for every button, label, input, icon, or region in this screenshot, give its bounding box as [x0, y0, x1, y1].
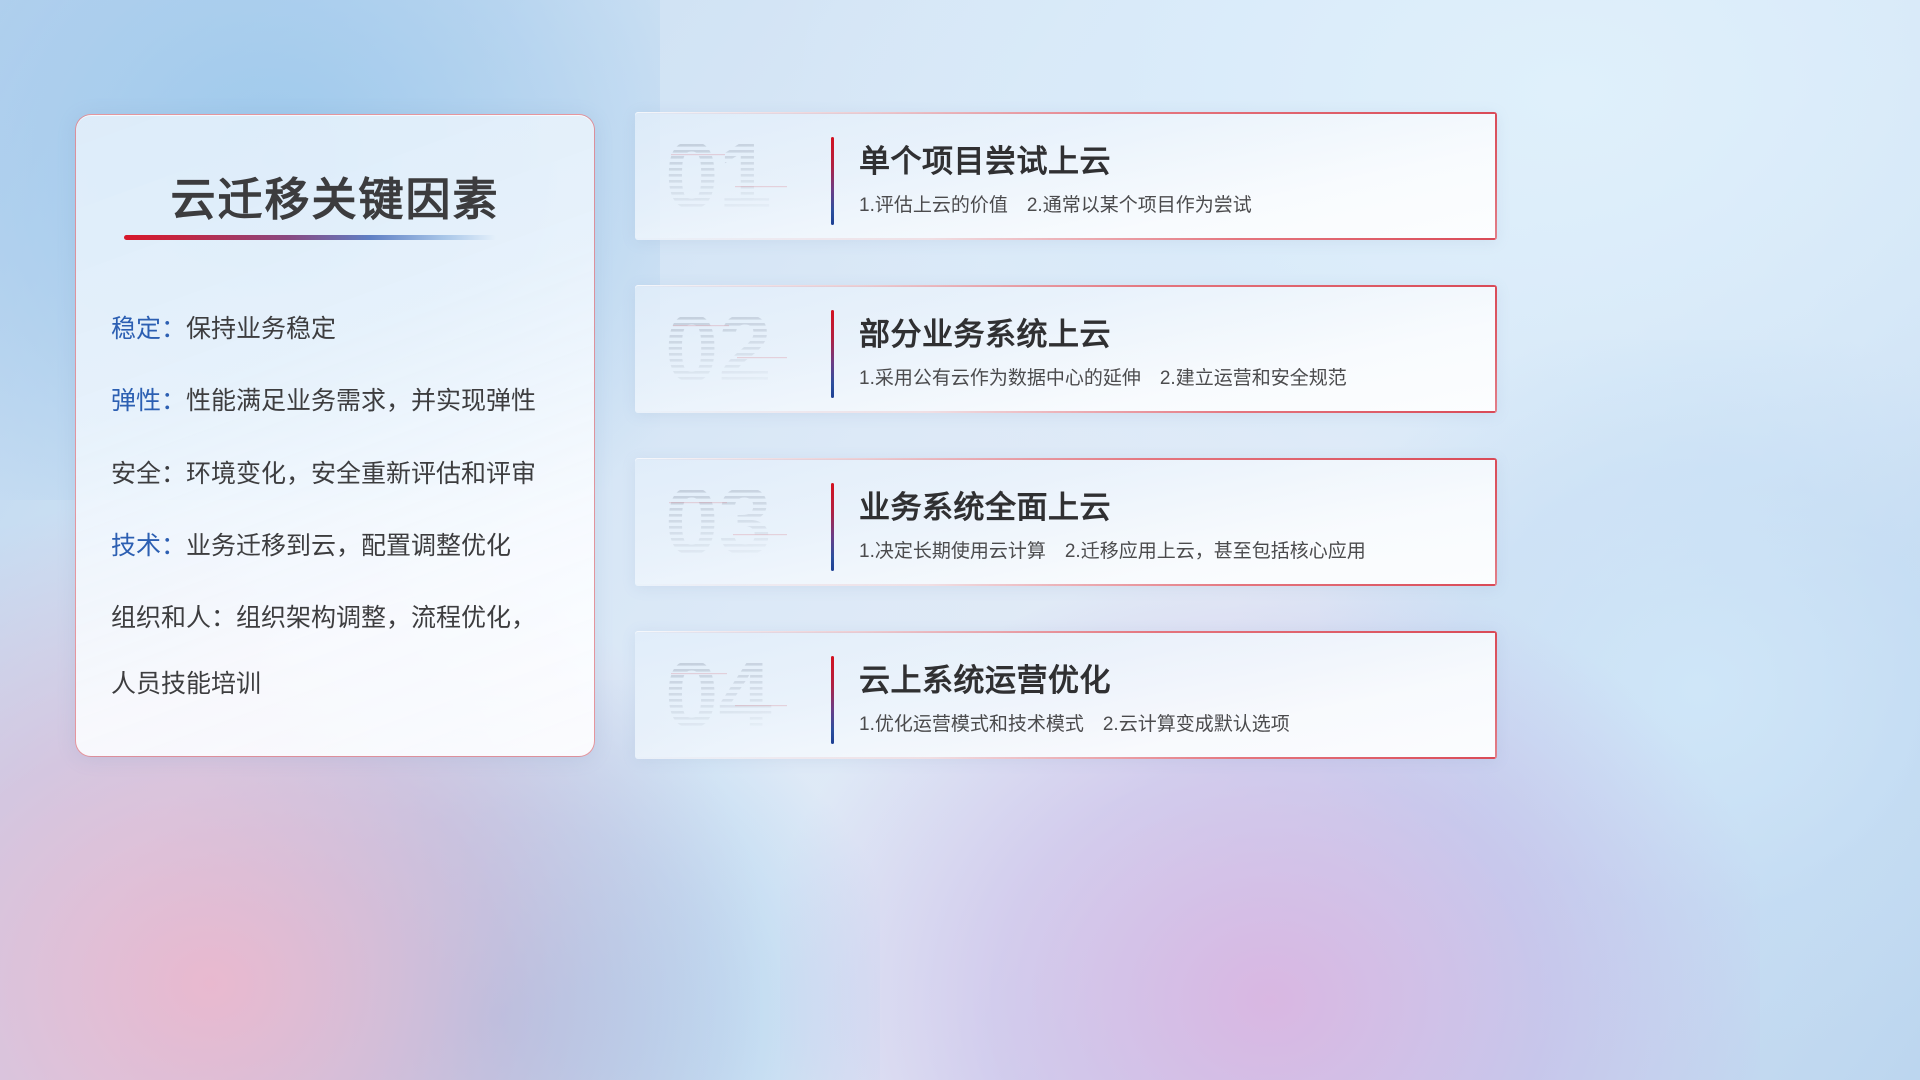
- card-right-accent-line: [1495, 631, 1497, 759]
- card-top-accent-line: [635, 285, 1497, 287]
- card-top-accent-line: [635, 631, 1497, 633]
- list-item: 组织和人：组织架构调整，流程优化，: [111, 600, 576, 636]
- svg-text:03: 03: [665, 472, 772, 572]
- card-top-accent-line: [635, 112, 1497, 114]
- list-item: 稳定：保持业务稳定: [111, 311, 576, 347]
- list-item-label: 弹性：: [111, 387, 186, 415]
- stage-number-watermark-icon: 02: [663, 299, 821, 399]
- card-bottom-accent-line: [635, 238, 1497, 240]
- stage-subtitle: 1.决定长期使用云计算 2.迁移应用上云，甚至包括核心应用: [859, 536, 1366, 563]
- stage-card-01[interactable]: 01 单个项目尝试上云 1.评估上云的价值 2.通常以某个项目作为尝试: [635, 112, 1497, 240]
- list-item: 安全：环境变化，安全重新评估和评审: [111, 456, 576, 492]
- stage-card-02[interactable]: 02 部分业务系统上云 1.采用公有云作为数据中心的延伸 2.建立运营和安全规范: [635, 285, 1497, 413]
- stage-title: 云上系统运营优化: [859, 655, 1111, 700]
- stage-card-04[interactable]: 04 云上系统运营优化 1.优化运营模式和技术模式 2.云计算变成默认选项: [635, 631, 1497, 759]
- list-item: 弹性：性能满足业务需求，并实现弹性: [111, 383, 576, 419]
- stage-number-watermark-icon: 01: [663, 126, 821, 226]
- list-item-continuation: 人员技能培训: [111, 666, 576, 702]
- list-item-text: 人员技能培训: [111, 670, 261, 698]
- svg-text:02: 02: [665, 299, 772, 399]
- card-bottom-accent-line: [635, 411, 1497, 413]
- list-item-text: 保持业务稳定: [186, 315, 336, 343]
- list-item-label: 技术：: [111, 532, 186, 560]
- list-item-text: 环境变化，安全重新评估和评审: [186, 460, 536, 488]
- card-right-accent-line: [1495, 285, 1497, 413]
- svg-text:04: 04: [665, 645, 772, 745]
- stage-number-watermark-icon: 03: [663, 472, 821, 572]
- key-factors-panel: 云迁移关键因素 稳定：保持业务稳定 弹性：性能满足业务需求，并实现弹性 安全：环…: [75, 114, 595, 757]
- card-bottom-accent-line: [635, 584, 1497, 586]
- key-factors-list: 稳定：保持业务稳定 弹性：性能满足业务需求，并实现弹性 安全：环境变化，安全重新…: [111, 311, 576, 739]
- card-right-accent-line: [1495, 112, 1497, 240]
- svg-text:01: 01: [665, 126, 772, 226]
- stage-subtitle: 1.采用公有云作为数据中心的延伸 2.建立运营和安全规范: [859, 363, 1347, 390]
- stage-title: 单个项目尝试上云: [859, 136, 1111, 181]
- card-divider-accent: [831, 137, 834, 225]
- card-divider-accent: [831, 483, 834, 571]
- stage-card-03[interactable]: 03 业务系统全面上云 1.决定长期使用云计算 2.迁移应用上云，甚至包括核心应…: [635, 458, 1497, 586]
- title-underline-accent: [124, 235, 496, 240]
- stage-subtitle: 1.优化运营模式和技术模式 2.云计算变成默认选项: [859, 709, 1290, 736]
- card-divider-accent: [831, 656, 834, 744]
- card-divider-accent: [831, 310, 834, 398]
- migration-stages-list: 01 单个项目尝试上云 1.评估上云的价值 2.通常以某个项目作为尝试: [635, 112, 1497, 804]
- stage-title: 部分业务系统上云: [859, 309, 1111, 354]
- list-item-text: 性能满足业务需求，并实现弹性: [186, 387, 536, 415]
- page-title: 云迁移关键因素: [76, 163, 594, 228]
- list-item-label: 安全：: [111, 460, 186, 488]
- card-bottom-accent-line: [635, 757, 1497, 759]
- list-item-text: 组织架构调整，流程优化，: [236, 604, 536, 632]
- list-item-label: 稳定：: [111, 315, 186, 343]
- card-top-accent-line: [635, 458, 1497, 460]
- list-item-label: 组织和人：: [111, 604, 236, 632]
- stage-title: 业务系统全面上云: [859, 482, 1111, 527]
- card-right-accent-line: [1495, 458, 1497, 586]
- list-item: 技术：业务迁移到云，配置调整优化: [111, 528, 576, 564]
- stage-subtitle: 1.评估上云的价值 2.通常以某个项目作为尝试: [859, 190, 1252, 217]
- stage-number-watermark-icon: 04: [663, 645, 821, 745]
- list-item-text: 业务迁移到云，配置调整优化: [186, 532, 511, 560]
